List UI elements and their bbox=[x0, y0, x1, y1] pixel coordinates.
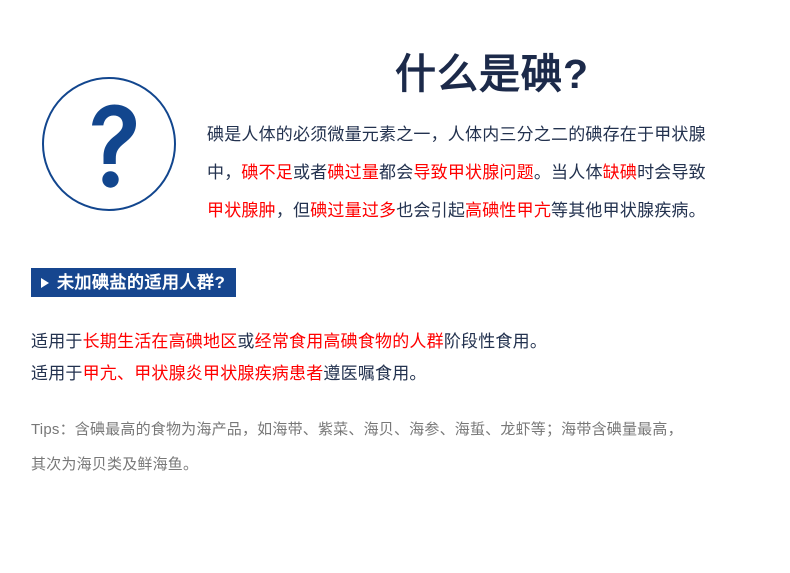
intro-paragraph: 碘是人体的必须微量元素之一，人体内三分之二的碘存在于甲状腺 中，碘不足或者碘过量… bbox=[207, 116, 773, 230]
body-text: 或者 bbox=[293, 163, 327, 182]
body-text: 遵医嘱食用。 bbox=[323, 364, 426, 383]
body-text: ，但 bbox=[276, 201, 310, 220]
applicable-line: 适用于甲亢、甲状腺炎甲状腺疾病患者遵医嘱食用。 bbox=[31, 358, 751, 390]
body-text: 中， bbox=[207, 163, 241, 182]
page-title: 什么是碘? bbox=[207, 52, 777, 97]
applicable-groups: 适用于长期生活在高碘地区或经常食用高碘食物的人群阶段性食用。 适用于甲亢、甲状腺… bbox=[31, 326, 751, 390]
body-text: 碘是人体的必须微量元素之一，人体内三分之二的碘存在于甲状腺 bbox=[207, 125, 706, 144]
highlighted-text: 高碘性甲亢 bbox=[465, 201, 551, 220]
body-text: 。当人体 bbox=[534, 163, 603, 182]
triangle-right-icon bbox=[41, 278, 49, 288]
body-text: 都会 bbox=[379, 163, 413, 182]
highlighted-text: 甲状腺肿 bbox=[207, 201, 276, 220]
section-banner[interactable]: 未加碘盐的适用人群? bbox=[31, 268, 236, 297]
intro-line: 中，碘不足或者碘过量都会导致甲状腺问题。当人体缺碘时会导致 bbox=[207, 154, 773, 192]
intro-line: 碘是人体的必须微量元素之一，人体内三分之二的碘存在于甲状腺 bbox=[207, 116, 773, 154]
question-mark-glyph bbox=[44, 79, 178, 213]
tips-line: Tips：含碘最高的食物为海产品，如海带、紫菜、海贝、海参、海蜇、龙虾等；海带含… bbox=[31, 412, 771, 447]
question-mark-circle-icon bbox=[42, 77, 176, 211]
body-text: 适用于 bbox=[31, 332, 83, 351]
body-text: 等其他甲状腺疾病。 bbox=[551, 201, 706, 220]
section-banner-label: 未加碘盐的适用人群? bbox=[57, 274, 225, 292]
body-text: 时会导致 bbox=[637, 163, 706, 182]
applicable-line: 适用于长期生活在高碘地区或经常食用高碘食物的人群阶段性食用。 bbox=[31, 326, 751, 358]
body-text: 阶段性食用。 bbox=[444, 332, 547, 351]
highlighted-text: 碘过量 bbox=[327, 163, 379, 182]
tips-note: Tips：含碘最高的食物为海产品，如海带、紫菜、海贝、海参、海蜇、龙虾等；海带含… bbox=[31, 412, 771, 482]
body-text: 适用于 bbox=[31, 364, 83, 383]
highlighted-text: 甲亢、甲状腺炎甲状腺疾病患者 bbox=[83, 364, 324, 383]
body-text: 也会引起 bbox=[396, 201, 465, 220]
highlighted-text: 碘不足 bbox=[241, 163, 293, 182]
highlighted-text: 导致甲状腺问题 bbox=[413, 163, 533, 182]
body-text: 或 bbox=[237, 332, 254, 351]
highlighted-text: 长期生活在高碘地区 bbox=[83, 332, 238, 351]
tips-line: 其次为海贝类及鲜海鱼。 bbox=[31, 447, 771, 482]
intro-line: 甲状腺肿，但碘过量过多也会引起高碘性甲亢等其他甲状腺疾病。 bbox=[207, 192, 773, 230]
highlighted-text: 经常食用高碘食物的人群 bbox=[255, 332, 444, 351]
highlighted-text: 碘过量过多 bbox=[310, 201, 396, 220]
highlighted-text: 缺碘 bbox=[603, 163, 637, 182]
info-poster: 什么是碘? 碘是人体的必须微量元素之一，人体内三分之二的碘存在于甲状腺 中，碘不… bbox=[0, 0, 790, 573]
